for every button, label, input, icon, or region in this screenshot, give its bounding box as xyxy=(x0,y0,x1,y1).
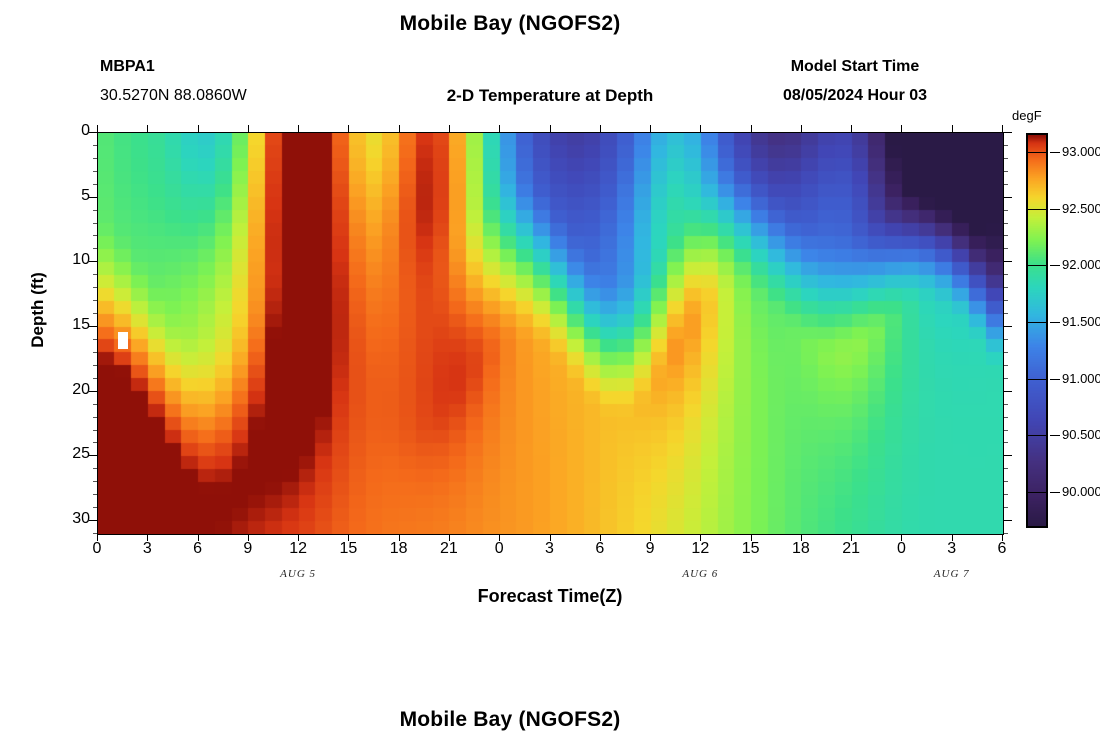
colorbar-division-line xyxy=(1027,152,1047,153)
x-axis-tick-top xyxy=(97,125,98,132)
x-axis-tick-top xyxy=(298,125,299,132)
colorbar-division-line xyxy=(1027,492,1047,493)
colorbar-tick-label: 90.000 xyxy=(1062,484,1100,499)
x-axis-tick-top xyxy=(399,125,400,132)
x-axis-tick-label: 12 xyxy=(680,540,720,558)
y-axis-minor-tick xyxy=(93,223,97,224)
y-axis-tick xyxy=(89,326,97,327)
y-axis-tick xyxy=(89,455,97,456)
y-axis-minor-tick-right xyxy=(1004,365,1008,366)
colorbar-tick xyxy=(1050,435,1060,436)
y-axis-minor-tick-right xyxy=(1004,533,1008,534)
y-axis-minor-tick xyxy=(93,184,97,185)
y-axis-minor-tick xyxy=(93,235,97,236)
y-axis-minor-tick xyxy=(93,378,97,379)
x-axis-tick-top xyxy=(600,125,601,132)
y-axis-minor-tick xyxy=(93,352,97,353)
model-start-time-label: Model Start Time xyxy=(700,58,1010,76)
x-axis-tick-top xyxy=(348,125,349,132)
y-axis-tick-label: 5 xyxy=(50,187,90,205)
x-axis-tick-top xyxy=(449,125,450,132)
x-axis-tick-label: 0 xyxy=(881,540,921,558)
y-axis-minor-tick-right xyxy=(1004,248,1008,249)
colorbar-tick-label: 91.000 xyxy=(1062,371,1100,386)
x-axis-tick-label: 21 xyxy=(831,540,871,558)
y-axis-tick-right xyxy=(1004,197,1012,198)
y-axis-minor-tick-right xyxy=(1004,507,1008,508)
x-axis-day-label: AUG 5 xyxy=(253,568,343,580)
y-axis-minor-tick-right xyxy=(1004,171,1008,172)
y-axis-title: Depth (ft) xyxy=(28,250,48,370)
y-axis-minor-tick xyxy=(93,300,97,301)
y-axis-minor-tick-right xyxy=(1004,145,1008,146)
x-axis-day-label: AUG 7 xyxy=(907,568,997,580)
y-axis-tick-right xyxy=(1004,261,1012,262)
y-axis-minor-tick xyxy=(93,287,97,288)
x-axis-title: Forecast Time(Z) xyxy=(300,586,800,607)
x-axis-tick-top xyxy=(1002,125,1003,132)
y-axis-minor-tick-right xyxy=(1004,442,1008,443)
y-axis-minor-tick xyxy=(93,145,97,146)
x-axis-tick-label: 18 xyxy=(781,540,821,558)
colorbar-tick xyxy=(1050,265,1060,266)
y-axis-minor-tick xyxy=(93,365,97,366)
x-axis-tick-label: 18 xyxy=(379,540,419,558)
y-axis-tick xyxy=(89,132,97,133)
colorbar xyxy=(1026,133,1048,528)
x-axis-tick-top xyxy=(901,125,902,132)
y-axis-tick-label: 20 xyxy=(50,381,90,399)
y-axis-minor-tick-right xyxy=(1004,339,1008,340)
y-axis-tick-label: 25 xyxy=(50,445,90,463)
page-title: Mobile Bay (NGOFS2) xyxy=(0,12,1020,36)
y-axis-minor-tick-right xyxy=(1004,481,1008,482)
y-axis-minor-tick xyxy=(93,533,97,534)
y-axis-tick-label: 15 xyxy=(50,316,90,334)
colorbar-tick-label: 91.500 xyxy=(1062,314,1100,329)
colorbar-tick-label: 93.000 xyxy=(1062,144,1100,159)
x-axis-day-label: AUG 6 xyxy=(655,568,745,580)
x-axis-tick-top xyxy=(650,125,651,132)
x-axis-tick-top xyxy=(700,125,701,132)
colorbar-division-line xyxy=(1027,265,1047,266)
x-axis-tick-label: 6 xyxy=(982,540,1022,558)
y-axis-minor-tick-right xyxy=(1004,468,1008,469)
y-axis-minor-tick xyxy=(93,481,97,482)
temperature-heatmap xyxy=(98,133,1003,534)
heatmap-plot-area xyxy=(97,132,1004,535)
x-axis-tick-top xyxy=(147,125,148,132)
colorbar-tick xyxy=(1050,322,1060,323)
y-axis-minor-tick-right xyxy=(1004,223,1008,224)
y-axis-minor-tick-right xyxy=(1004,378,1008,379)
y-axis-tick-right xyxy=(1004,132,1012,133)
colorbar-division-line xyxy=(1027,379,1047,380)
y-axis-minor-tick xyxy=(93,494,97,495)
y-axis-tick-right xyxy=(1004,326,1012,327)
colorbar-tick xyxy=(1050,209,1060,210)
x-axis-tick-label: 9 xyxy=(228,540,268,558)
x-axis-tick-label: 15 xyxy=(731,540,771,558)
y-axis-minor-tick xyxy=(93,417,97,418)
colorbar-division-line xyxy=(1027,209,1047,210)
y-axis-minor-tick xyxy=(93,468,97,469)
colorbar-tick-label: 90.500 xyxy=(1062,427,1100,442)
x-axis-tick-top xyxy=(550,125,551,132)
x-axis-tick-top xyxy=(801,125,802,132)
y-axis-minor-tick-right xyxy=(1004,417,1008,418)
y-axis-minor-tick-right xyxy=(1004,352,1008,353)
x-axis-tick-top xyxy=(851,125,852,132)
y-axis-minor-tick xyxy=(93,274,97,275)
y-axis-tick xyxy=(89,197,97,198)
y-axis-tick-right xyxy=(1004,391,1012,392)
y-axis-minor-tick-right xyxy=(1004,494,1008,495)
x-axis-tick-label: 3 xyxy=(127,540,167,558)
y-axis-minor-tick-right xyxy=(1004,300,1008,301)
y-axis-minor-tick xyxy=(93,210,97,211)
x-axis-tick-label: 6 xyxy=(178,540,218,558)
x-axis-tick-label: 21 xyxy=(429,540,469,558)
y-axis-minor-tick xyxy=(93,442,97,443)
y-axis-minor-tick-right xyxy=(1004,184,1008,185)
y-axis-minor-tick xyxy=(93,313,97,314)
y-axis-tick xyxy=(89,520,97,521)
y-axis-tick xyxy=(89,391,97,392)
station-id-label: MBPA1 xyxy=(100,58,155,76)
y-axis-tick-label: 30 xyxy=(50,510,90,528)
colorbar-tick xyxy=(1050,492,1060,493)
colorbar-division-line xyxy=(1027,435,1047,436)
y-axis-minor-tick-right xyxy=(1004,430,1008,431)
x-axis-tick-top xyxy=(248,125,249,132)
colorbar-division-line xyxy=(1027,322,1047,323)
y-axis-minor-tick xyxy=(93,507,97,508)
x-axis-tick-label: 3 xyxy=(530,540,570,558)
colorbar-tick-label: 92.000 xyxy=(1062,257,1100,272)
x-axis-tick-label: 0 xyxy=(77,540,117,558)
y-axis-minor-tick-right xyxy=(1004,404,1008,405)
x-axis-tick-top xyxy=(198,125,199,132)
colorbar-tick xyxy=(1050,379,1060,380)
y-axis-minor-tick xyxy=(93,158,97,159)
y-axis-minor-tick xyxy=(93,404,97,405)
y-axis-minor-tick-right xyxy=(1004,287,1008,288)
footer-title: Mobile Bay (NGOFS2) xyxy=(0,708,1020,732)
colorbar-tick-label: 92.500 xyxy=(1062,201,1100,216)
x-axis-tick-label: 12 xyxy=(278,540,318,558)
x-axis-tick-label: 3 xyxy=(932,540,972,558)
station-coordinates-label: 30.5270N 88.0860W xyxy=(100,87,247,105)
model-start-time-value: 08/05/2024 Hour 03 xyxy=(700,87,1010,105)
x-axis-tick-label: 0 xyxy=(479,540,519,558)
colorbar-tick xyxy=(1050,152,1060,153)
y-axis-tick-label: 0 xyxy=(50,122,90,140)
y-axis-minor-tick-right xyxy=(1004,158,1008,159)
y-axis-minor-tick-right xyxy=(1004,274,1008,275)
x-axis-tick-label: 6 xyxy=(580,540,620,558)
missing-data-marker xyxy=(118,332,128,349)
y-axis-minor-tick-right xyxy=(1004,210,1008,211)
x-axis-tick-top xyxy=(751,125,752,132)
y-axis-tick-right xyxy=(1004,455,1012,456)
y-axis-minor-tick xyxy=(93,339,97,340)
colorbar-gradient xyxy=(1028,135,1046,526)
chart-page: Mobile Bay (NGOFS2) MBPA1 30.5270N 88.08… xyxy=(0,0,1100,750)
y-axis-minor-tick-right xyxy=(1004,235,1008,236)
y-axis-minor-tick xyxy=(93,430,97,431)
y-axis-tick-right xyxy=(1004,520,1012,521)
colorbar-title: degF xyxy=(1012,108,1042,123)
y-axis-tick xyxy=(89,261,97,262)
x-axis-tick-top xyxy=(952,125,953,132)
y-axis-minor-tick-right xyxy=(1004,313,1008,314)
x-axis-tick-top xyxy=(499,125,500,132)
x-axis-tick-label: 9 xyxy=(630,540,670,558)
y-axis-minor-tick xyxy=(93,248,97,249)
y-axis-minor-tick xyxy=(93,171,97,172)
x-axis-tick-label: 15 xyxy=(328,540,368,558)
y-axis-tick-label: 10 xyxy=(50,251,90,269)
